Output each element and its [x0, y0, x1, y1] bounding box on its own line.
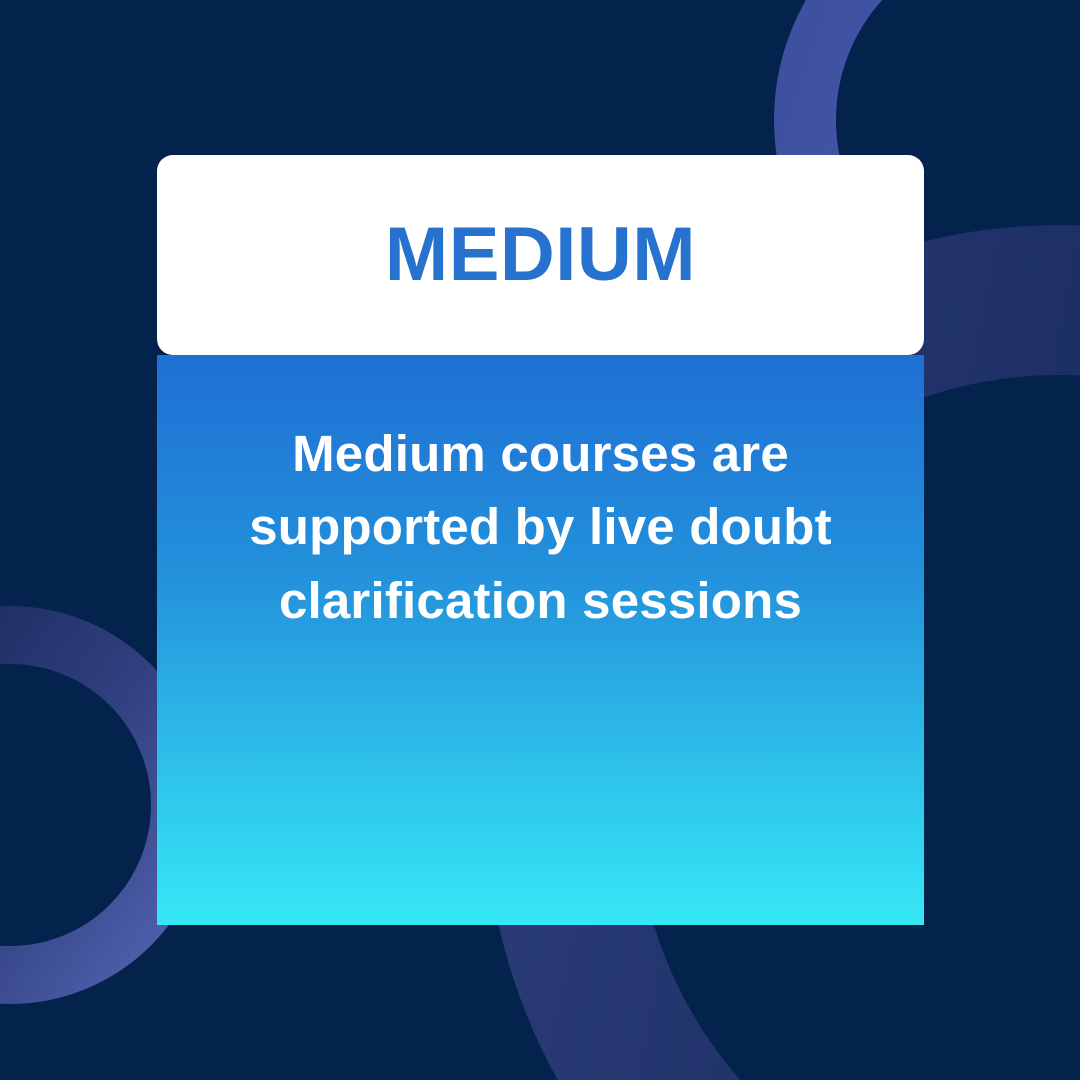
content-card: MEDIUM Medium courses are supported by l… [157, 155, 924, 925]
card-body-text: Medium courses are supported by live dou… [231, 417, 851, 637]
card-header: MEDIUM [157, 155, 924, 355]
card-body: Medium courses are supported by live dou… [157, 355, 924, 925]
slide-canvas: MEDIUM Medium courses are supported by l… [0, 0, 1080, 1080]
ring-bottom-left-shape [0, 635, 180, 975]
page-title: MEDIUM [385, 217, 696, 293]
